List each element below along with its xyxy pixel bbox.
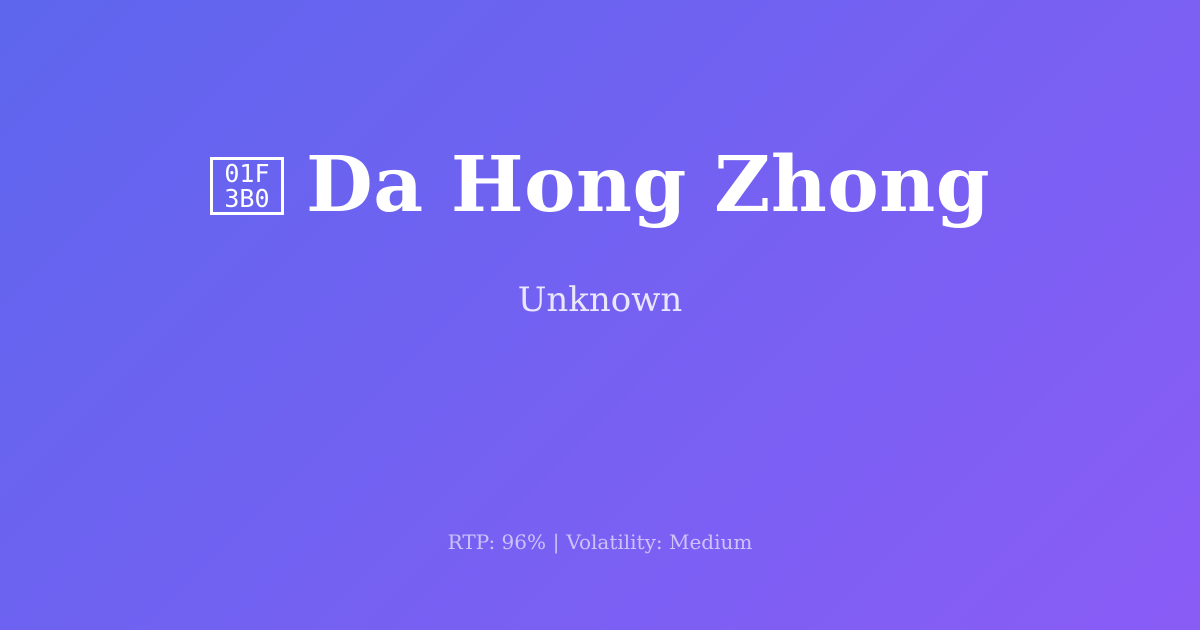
tofu-codepoint-bottom: 3B0 (224, 186, 269, 211)
meta-separator: | (546, 528, 566, 556)
game-meta-line: RTP: 96% | Volatility: Medium (0, 528, 1200, 556)
slot-machine-emoji-icon: 01F 3B0 (210, 157, 284, 215)
volatility-label: Volatility: Medium (566, 528, 752, 556)
game-title: Da Hong Zhong (306, 145, 990, 226)
tofu-codepoint-top: 01F (224, 161, 269, 186)
game-preview-card: 01F 3B0 Da Hong Zhong Unknown RTP: 96% |… (0, 0, 1200, 630)
title-row: 01F 3B0 Da Hong Zhong (210, 145, 990, 226)
rtp-label: RTP: 96% (448, 528, 546, 556)
game-provider: Unknown (518, 280, 683, 321)
hero-section: 01F 3B0 Da Hong Zhong Unknown (0, 0, 1200, 466)
